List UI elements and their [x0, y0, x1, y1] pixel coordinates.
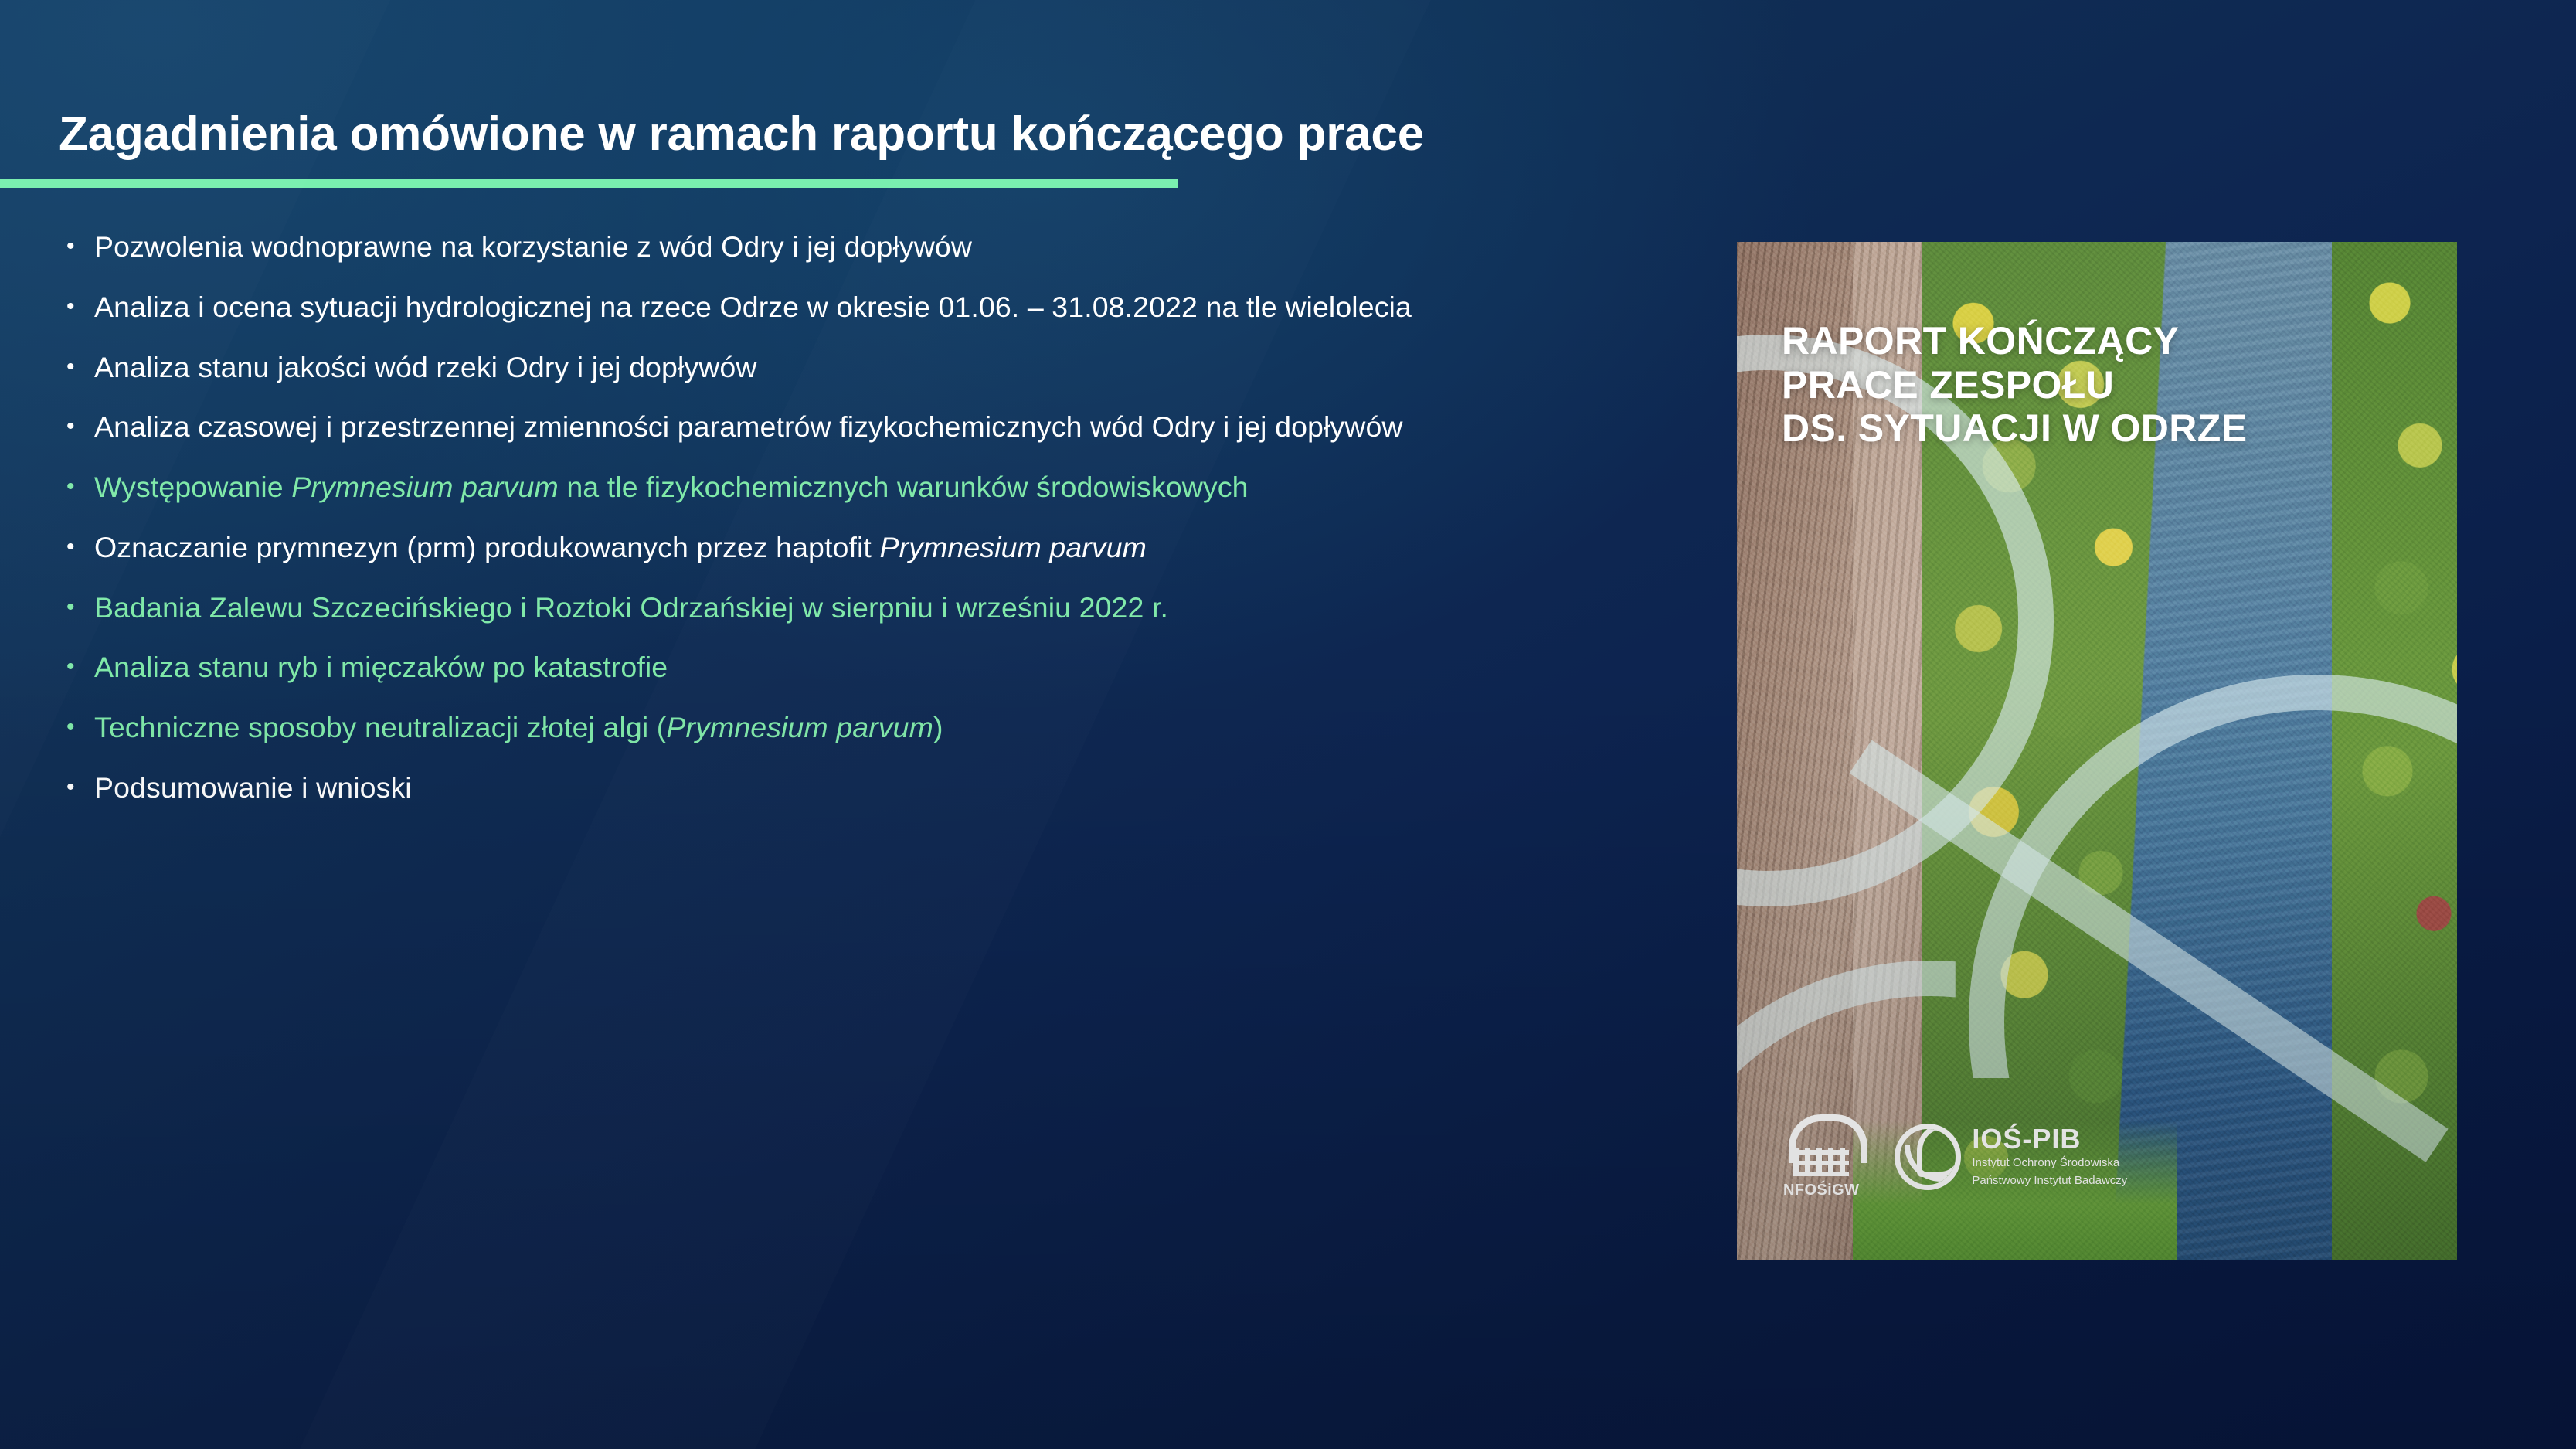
bullet-dot-icon: • — [59, 589, 94, 625]
list-item-highlighted: • Techniczne sposoby neutralizacji złote… — [59, 709, 1689, 747]
bullet-dot-icon: • — [59, 769, 94, 805]
species-name: Prymnesium parvum — [666, 711, 933, 743]
bullet-dot-icon: • — [59, 288, 94, 325]
list-item-text: Pozwolenia wodnoprawne na korzystanie z … — [94, 228, 1689, 266]
page-title: Zagadnienia omówione w ramach raportu ko… — [0, 108, 1178, 161]
species-name: Prymnesium parvum — [291, 471, 559, 503]
list-item: • Analiza i ocena sytuacji hydrologiczne… — [59, 288, 1689, 326]
bullet-dot-icon: • — [59, 408, 94, 444]
list-item: • Pozwolenia wodnoprawne na korzystanie … — [59, 228, 1689, 266]
list-item: • Analiza stanu jakości wód rzeki Odry i… — [59, 349, 1689, 386]
ios-pib-logo: IOŚ-PIB Instytut Ochrony Środowiska Pańs… — [1895, 1124, 2127, 1190]
species-name: Prymnesium parvum — [879, 531, 1147, 563]
cover-title-line-1: RAPORT KOŃCZĄCY — [1782, 319, 2442, 363]
bullet-dot-icon: • — [59, 709, 94, 745]
list-item: • Oznaczanie prymnezyn (prm) produkowany… — [59, 529, 1689, 566]
list-item-text: Analiza stanu ryb i mięczaków po katastr… — [94, 648, 1689, 686]
bullet-dot-icon: • — [59, 349, 94, 385]
bullet-dot-icon: • — [59, 529, 94, 565]
ios-pib-logo-text: IOŚ-PIB Instytut Ochrony Środowiska Pańs… — [1972, 1125, 2127, 1189]
ios-pib-abbr: IOŚ-PIB — [1972, 1125, 2127, 1153]
cover-title-line-2: PRACE ZESPOŁU — [1782, 363, 2442, 407]
title-accent-rule — [0, 179, 1178, 188]
list-item-text: Techniczne sposoby neutralizacji złotej … — [94, 709, 1689, 747]
list-item: • Analiza czasowej i przestrzennej zmien… — [59, 408, 1689, 446]
list-item-text: Badania Zalewu Szczecińskiego i Roztoki … — [94, 589, 1689, 627]
cover-logo-row: NFOŚiGW IOŚ-PIB Instytut Ochrony Środowi… — [1783, 1114, 2127, 1199]
ios-pib-name-line-2: Państwowy Instytut Badawczy — [1972, 1174, 2127, 1189]
list-item-highlighted: • Badania Zalewu Szczecińskiego i Roztok… — [59, 589, 1689, 627]
list-item-highlighted: • Występowanie Prymnesium parvum na tle … — [59, 468, 1689, 506]
list-item-text: Podsumowanie i wnioski — [94, 769, 1689, 807]
bullet-dot-icon: • — [59, 228, 94, 264]
nfosigw-logo-label: NFOŚiGW — [1783, 1182, 1859, 1199]
list-item-text: Analiza i ocena sytuacji hydrologicznej … — [94, 288, 1689, 326]
list-item: • Podsumowanie i wnioski — [59, 769, 1689, 807]
ios-pib-leaf-icon — [1895, 1124, 1961, 1190]
bullet-dot-icon: • — [59, 468, 94, 505]
list-item-text: Analiza stanu jakości wód rzeki Odry i j… — [94, 349, 1689, 386]
cover-title-line-3: DS. SYTUACJI W ODRZE — [1782, 406, 2442, 451]
list-item-text: Analiza czasowej i przestrzennej zmienno… — [94, 408, 1689, 446]
report-cover-image: RAPORT KOŃCZĄCY PRACE ZESPOŁU DS. SYTUAC… — [1737, 242, 2457, 1260]
ios-pib-name-line-1: Instytut Ochrony Środowiska — [1972, 1156, 2127, 1171]
list-item-highlighted: • Analiza stanu ryb i mięczaków po katas… — [59, 648, 1689, 686]
cover-title: RAPORT KOŃCZĄCY PRACE ZESPOŁU DS. SYTUAC… — [1782, 319, 2442, 451]
slide-canvas: Zagadnienia omówione w ramach raportu ko… — [0, 0, 2576, 1449]
title-block: Zagadnienia omówione w ramach raportu ko… — [0, 108, 1178, 188]
nfosigw-mark-icon — [1786, 1114, 1857, 1179]
list-item-text: Oznaczanie prymnezyn (prm) produkowanych… — [94, 529, 1689, 566]
bullet-dot-icon: • — [59, 648, 94, 685]
bullet-list: • Pozwolenia wodnoprawne na korzystanie … — [59, 228, 1689, 829]
nfosigw-logo: NFOŚiGW — [1783, 1114, 1859, 1199]
list-item-text: Występowanie Prymnesium parvum na tle fi… — [94, 468, 1689, 506]
